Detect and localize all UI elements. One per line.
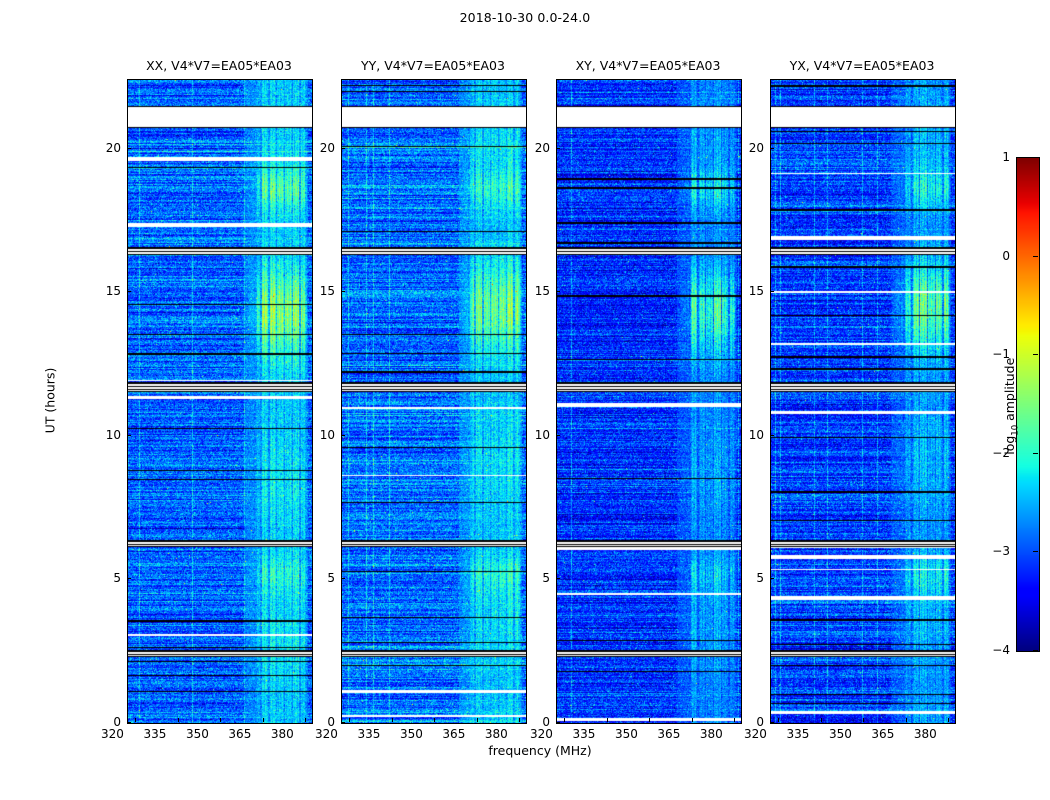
x-tick-label-335: 335 bbox=[775, 727, 821, 741]
x-tick-label-320: 320 bbox=[518, 727, 564, 741]
y-tickmark bbox=[770, 148, 774, 149]
x-tick-label-335: 335 bbox=[561, 727, 607, 741]
y-tickmark bbox=[127, 578, 131, 579]
spectrum-panel-xy[interactable] bbox=[556, 79, 742, 724]
x-tick-label-365: 365 bbox=[217, 727, 263, 741]
colorbar-tick-label-2: −1 bbox=[970, 347, 1010, 361]
colorbar-label-suffix: amplitude bbox=[1002, 358, 1017, 425]
x-tick-label-380: 380 bbox=[688, 727, 734, 741]
spectrum-image-yy bbox=[342, 80, 526, 723]
x-tick-label-335: 335 bbox=[132, 727, 178, 741]
y-tick-label-10: 10 bbox=[726, 428, 764, 442]
x-tick-label-380: 380 bbox=[902, 727, 948, 741]
spectrum-image-yx bbox=[771, 80, 955, 723]
y-tickmark bbox=[341, 435, 345, 436]
y-tickmark bbox=[556, 722, 560, 723]
panel-title-xx: XX, V4*V7=EA05*EA03 bbox=[127, 58, 311, 73]
y-tickmark bbox=[127, 291, 131, 292]
panel-title-yx: YX, V4*V7=EA05*EA03 bbox=[770, 58, 954, 73]
y-tickmark bbox=[770, 578, 774, 579]
colorbar-axis-title: log10 amplitude bbox=[1002, 296, 1021, 516]
y-tickmark bbox=[341, 291, 345, 292]
spectrum-panel-xx[interactable] bbox=[127, 79, 313, 724]
y-tickmark bbox=[770, 435, 774, 436]
x-tickmark bbox=[349, 718, 350, 722]
figure-suptitle: 2018-10-30 0.0-24.0 bbox=[0, 10, 1050, 25]
x-tickmark bbox=[434, 718, 435, 722]
y-tick-label-20: 20 bbox=[297, 141, 335, 155]
x-tickmark bbox=[392, 718, 393, 722]
y-tickmark bbox=[556, 291, 560, 292]
x-tick-label-320: 320 bbox=[303, 727, 349, 741]
x-tick-label-350: 350 bbox=[388, 727, 434, 741]
x-tickmark bbox=[220, 718, 221, 722]
panel-title-xy: XY, V4*V7=EA05*EA03 bbox=[556, 58, 740, 73]
y-tick-label-5: 5 bbox=[726, 571, 764, 585]
colorbar-tickmark bbox=[1033, 157, 1038, 158]
y-tickmark bbox=[341, 578, 345, 579]
colorbar-tick-label-3: −2 bbox=[970, 446, 1010, 460]
y-tick-label-5: 5 bbox=[512, 571, 550, 585]
x-tickmark bbox=[263, 718, 264, 722]
y-tick-label-5: 5 bbox=[83, 571, 121, 585]
x-tick-label-320: 320 bbox=[89, 727, 135, 741]
panel-title-yy: YY, V4*V7=EA05*EA03 bbox=[341, 58, 525, 73]
y-axis-title: UT (hours) bbox=[43, 321, 58, 481]
x-tickmark bbox=[135, 718, 136, 722]
x-tickmark bbox=[906, 718, 907, 722]
x-tick-label-380: 380 bbox=[473, 727, 519, 741]
x-tick-label-365: 365 bbox=[646, 727, 692, 741]
y-tick-label-15: 15 bbox=[512, 284, 550, 298]
x-tick-label-350: 350 bbox=[817, 727, 863, 741]
colorbar-tick-label-1: 0 bbox=[970, 249, 1010, 263]
spectrum-image-xy bbox=[557, 80, 741, 723]
x-tick-label-350: 350 bbox=[603, 727, 649, 741]
y-tick-label-15: 15 bbox=[83, 284, 121, 298]
spectrum-panel-yx[interactable] bbox=[770, 79, 956, 724]
colorbar-label-subscript: 10 bbox=[1010, 425, 1020, 436]
colorbar-gradient bbox=[1017, 158, 1039, 651]
y-tick-label-20: 20 bbox=[83, 141, 121, 155]
x-tickmark bbox=[778, 718, 779, 722]
x-tick-label-350: 350 bbox=[174, 727, 220, 741]
x-tickmark bbox=[863, 718, 864, 722]
x-tickmark bbox=[948, 718, 949, 722]
y-tickmark bbox=[556, 435, 560, 436]
y-tick-label-15: 15 bbox=[297, 284, 335, 298]
y-tickmark bbox=[127, 435, 131, 436]
colorbar-tickmark bbox=[1033, 551, 1038, 552]
x-tickmark bbox=[178, 718, 179, 722]
colorbar-tickmark bbox=[1033, 453, 1038, 454]
colorbar-tickmark bbox=[1033, 256, 1038, 257]
y-tickmark bbox=[341, 722, 345, 723]
x-tickmark bbox=[821, 718, 822, 722]
y-tickmark bbox=[341, 148, 345, 149]
x-tick-label-320: 320 bbox=[732, 727, 778, 741]
y-tick-label-10: 10 bbox=[512, 428, 550, 442]
y-tickmark bbox=[127, 722, 131, 723]
y-tick-label-5: 5 bbox=[297, 571, 335, 585]
y-tick-label-10: 10 bbox=[83, 428, 121, 442]
x-tickmark bbox=[649, 718, 650, 722]
x-tickmark bbox=[692, 718, 693, 722]
figure-canvas: 2018-10-30 0.0-24.0 XX, V4*V7=EA05*EA03 … bbox=[0, 0, 1050, 800]
colorbar-tick-label-5: −4 bbox=[970, 643, 1010, 657]
colorbar-tickmark bbox=[1033, 650, 1038, 651]
y-tick-label-20: 20 bbox=[512, 141, 550, 155]
y-tick-label-20: 20 bbox=[726, 141, 764, 155]
spectrum-image-xx bbox=[128, 80, 312, 723]
y-tickmark bbox=[556, 578, 560, 579]
spectrum-panel-yy[interactable] bbox=[341, 79, 527, 724]
y-tick-label-10: 10 bbox=[297, 428, 335, 442]
colorbar-tick-label-4: −3 bbox=[970, 544, 1010, 558]
colorbar-tick-label-0: 1 bbox=[970, 150, 1010, 164]
x-tickmark bbox=[564, 718, 565, 722]
y-tickmark bbox=[127, 148, 131, 149]
x-tick-label-365: 365 bbox=[431, 727, 477, 741]
x-tickmark bbox=[607, 718, 608, 722]
x-tick-label-365: 365 bbox=[860, 727, 906, 741]
y-tickmark bbox=[556, 148, 560, 149]
colorbar-tickmark bbox=[1033, 354, 1038, 355]
y-tickmark bbox=[770, 291, 774, 292]
x-tickmark bbox=[477, 718, 478, 722]
x-tick-label-335: 335 bbox=[346, 727, 392, 741]
x-axis-title: frequency (MHz) bbox=[420, 743, 660, 758]
y-tick-label-15: 15 bbox=[726, 284, 764, 298]
y-tickmark bbox=[770, 722, 774, 723]
x-tick-label-380: 380 bbox=[259, 727, 305, 741]
